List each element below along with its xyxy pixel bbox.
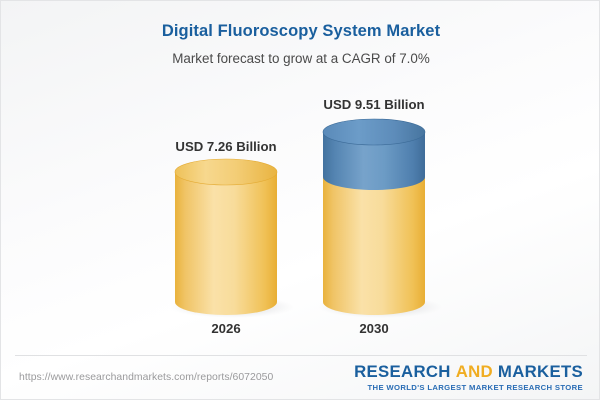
- research-and-markets-logo[interactable]: RESEARCH AND MARKETS THE WORLD'S LARGEST…: [354, 363, 583, 393]
- bar-2026-body: [175, 172, 277, 315]
- logo-word-research: RESEARCH: [354, 362, 451, 381]
- bar-chart-plot: [1, 1, 600, 400]
- bar-2030-top: [323, 119, 425, 145]
- logo-word-and: AND: [456, 362, 493, 381]
- footer-divider: [15, 355, 587, 356]
- bar-2030-base-segment: [323, 177, 425, 315]
- infographic-card: Digital Fluoroscopy System Market Market…: [0, 0, 600, 400]
- bar-2030: [318, 119, 442, 318]
- logo-wordmark: RESEARCH AND MARKETS: [354, 363, 583, 381]
- bar-2026: [170, 159, 294, 318]
- bar-2030-value-label: USD 9.51 Billion: [279, 97, 469, 112]
- logo-word-markets: MARKETS: [498, 362, 583, 381]
- bar-2030-category-label: 2030: [279, 321, 469, 336]
- report-url-link[interactable]: https://www.researchandmarkets.com/repor…: [19, 372, 273, 383]
- logo-tagline: THE WORLD'S LARGEST MARKET RESEARCH STOR…: [354, 383, 583, 393]
- bar-2026-value-label: USD 7.26 Billion: [131, 139, 321, 154]
- bar-2026-top: [175, 159, 277, 185]
